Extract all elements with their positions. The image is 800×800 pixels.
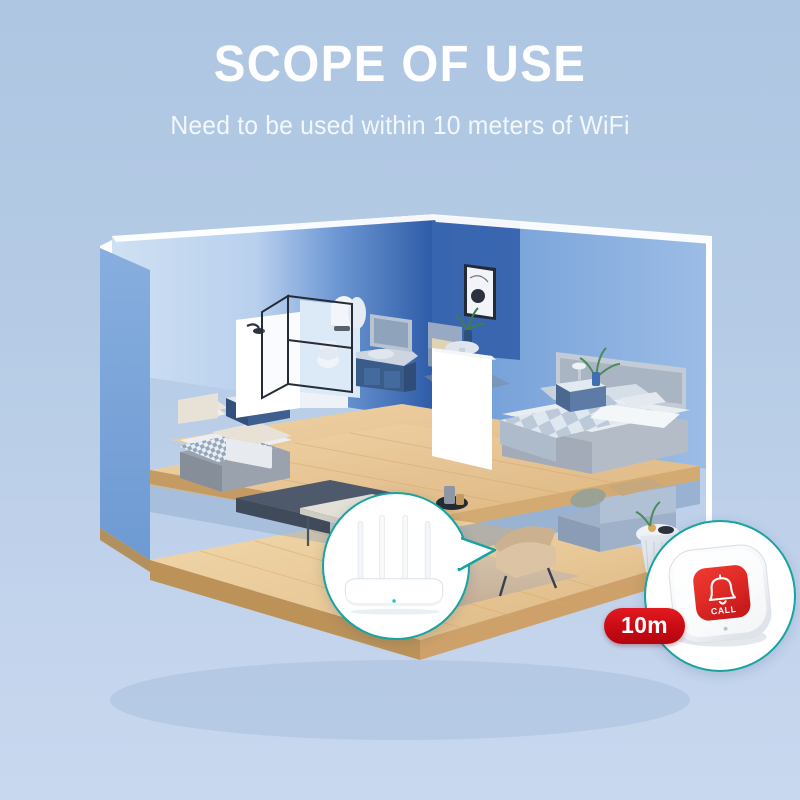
wifi-router-icon (324, 494, 468, 638)
distance-badge: 10m (604, 608, 685, 644)
router-callout-circle (322, 492, 470, 640)
infographic-canvas: SCOPE OF USE Need to be used within 10 m… (0, 0, 800, 800)
isometric-apartment-illustration (0, 0, 800, 800)
call-button-callout-circle: CALL (644, 520, 796, 672)
callout-pointer (453, 530, 499, 574)
call-button-device: CALL (646, 522, 794, 670)
